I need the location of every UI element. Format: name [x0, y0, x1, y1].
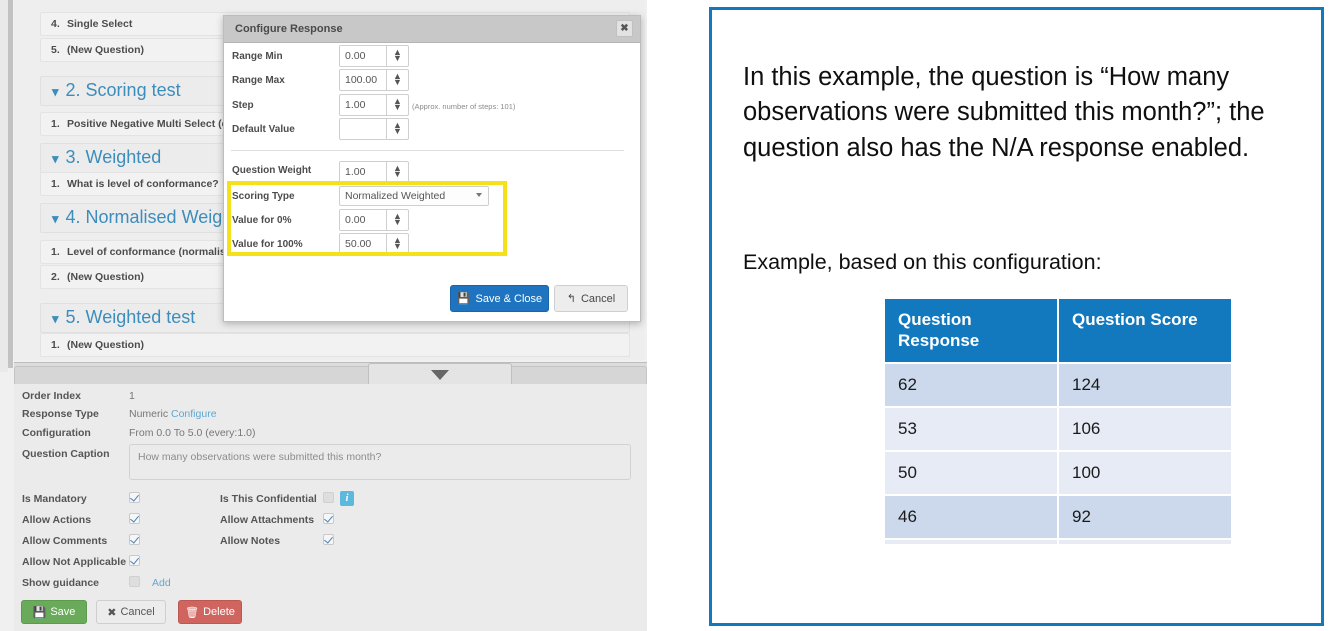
table-row: 50 100 [885, 452, 1231, 494]
value-for-100-stepper[interactable]: ▲▼ [339, 233, 409, 255]
value-for-100-label: Value for 100% [232, 239, 303, 250]
range-max-input[interactable] [339, 69, 387, 91]
cell-score: 92 [1059, 496, 1231, 538]
table-row: 46 92 [885, 496, 1231, 538]
save-disk-icon: 💾 [457, 292, 471, 305]
undo-arrow-icon: ↰ [567, 292, 576, 305]
allow-not-applicable-label: Allow Not Applicable [22, 556, 126, 568]
explanation-paragraph: In this example, the question is “How ma… [743, 60, 1295, 166]
approx-steps-note: (Approx. number of steps: 101) [412, 102, 515, 111]
chevron-down-icon [476, 193, 482, 197]
allow-comments-checkbox[interactable] [129, 534, 140, 545]
is-this-confidential-label: Is This Confidential [220, 493, 317, 505]
configure-link[interactable]: Configure [171, 408, 217, 420]
section-header-label: 4. Normalised Weigh [66, 207, 233, 230]
list-item-label: What is level of conformance? [67, 178, 219, 190]
dialog-divider [231, 150, 624, 151]
show-guidance-label: Show guidance [22, 577, 99, 589]
allow-not-applicable-checkbox[interactable] [129, 555, 140, 566]
chevron-down-icon: ▾ [41, 85, 66, 98]
dialog-cancel-label: Cancel [581, 293, 615, 305]
step-input[interactable] [339, 94, 387, 116]
value-for-0-input[interactable] [339, 209, 387, 231]
tab-active-collapse[interactable] [368, 363, 512, 385]
question-caption-input[interactable] [129, 444, 631, 480]
question-weight-label: Question Weight [232, 165, 311, 176]
show-guidance-checkbox[interactable] [129, 576, 140, 587]
column-header-question-score: Question Score [1059, 299, 1231, 362]
configuration-label: Configuration [22, 427, 91, 439]
close-icon[interactable]: ✖ [616, 20, 633, 37]
cancel-button[interactable]: ✖ Cancel [96, 600, 166, 624]
page-scrollbar-track[interactable] [0, 0, 8, 372]
cell-response: 53 [885, 408, 1057, 450]
section-header-label: 5. Weighted test [66, 307, 196, 330]
chevron-down-icon: ▾ [41, 312, 66, 325]
close-x-icon: ✖ [107, 606, 116, 619]
order-index-value: 1 [129, 390, 135, 402]
spin-down-icon[interactable]: ▼ [393, 105, 402, 111]
range-min-label: Range Min [232, 51, 283, 62]
save-disk-icon: 💾 [33, 606, 47, 619]
allow-attachments-checkbox[interactable] [323, 513, 334, 524]
spin-down-icon[interactable]: ▼ [393, 80, 402, 86]
cell-response: 50 [885, 452, 1057, 494]
is-mandatory-label: Is Mandatory [22, 493, 87, 505]
is-mandatory-checkbox[interactable] [129, 492, 140, 503]
info-icon[interactable]: i [340, 491, 354, 506]
scoring-type-label: Scoring Type [232, 191, 295, 202]
section-header-label: 2. Scoring test [66, 80, 181, 103]
default-value-stepper[interactable]: ▲▼ [339, 118, 409, 140]
question-detail-panel: Order Index 1 Response Type Numeric Conf… [14, 384, 647, 631]
cell-score: 106 [1059, 408, 1231, 450]
allow-notes-label: Allow Notes [220, 535, 280, 547]
table-row: 62 124 [885, 364, 1231, 406]
range-min-input[interactable] [339, 45, 387, 67]
default-value-label: Default Value [232, 124, 295, 135]
list-item-label: (New Question) [67, 339, 144, 351]
response-type-value: Numeric [129, 408, 168, 420]
question-weight-input[interactable] [339, 161, 387, 183]
question-score-table: Question Response Question Score 62 124 … [883, 297, 1233, 546]
list-item-number: 5. [41, 44, 67, 56]
chevron-down-icon: ▾ [41, 152, 66, 165]
question-weight-spin-buttons[interactable]: ▲▼ [386, 161, 409, 183]
cell-score: 100 [1059, 452, 1231, 494]
list-item[interactable]: 1. (New Question) [40, 333, 630, 357]
cell-response-truncated [885, 540, 1057, 544]
table-header-row: Question Response Question Score [885, 299, 1231, 362]
question-caption-label: Question Caption [22, 448, 110, 460]
list-item-number: 1. [41, 178, 67, 190]
slide-panel: In this example, the question is “How ma… [709, 7, 1324, 626]
allow-attachments-label: Allow Attachments [220, 514, 314, 526]
column-header-question-response: Question Response [885, 299, 1057, 362]
list-item-number: 1. [41, 246, 67, 258]
step-label: Step [232, 100, 254, 111]
cell-response: 46 [885, 496, 1057, 538]
value-for-0-label: Value for 0% [232, 215, 291, 226]
spin-down-icon[interactable]: ▼ [393, 220, 402, 226]
save-button-label: Save [50, 606, 75, 618]
table-row: 53 106 [885, 408, 1231, 450]
save-and-close-button[interactable]: 💾 Save & Close [450, 285, 549, 312]
range-max-stepper[interactable]: ▲▼ [339, 69, 409, 91]
default-value-input[interactable] [339, 118, 387, 140]
allow-actions-label: Allow Actions [22, 514, 91, 526]
dialog-cancel-button[interactable]: ↰ Cancel [554, 285, 628, 312]
response-type-label: Response Type [22, 408, 99, 420]
application-screenshot: 4. Single Select 5. (New Question) ▾ 2. … [0, 0, 647, 631]
spin-down-icon[interactable]: ▼ [393, 172, 402, 178]
dialog-title: Configure Response [235, 23, 343, 35]
step-stepper[interactable]: ▲▼ [339, 94, 409, 116]
section-header-label: 3. Weighted [66, 147, 162, 170]
delete-button-label: Delete [203, 606, 235, 618]
chevron-down-icon: ▾ [41, 212, 66, 225]
list-item-label: Positive Negative Multi Select (qu [67, 118, 234, 130]
tab-left[interactable] [14, 366, 370, 385]
spin-down-icon[interactable]: ▼ [393, 244, 402, 250]
page-scrollbar-thumb[interactable] [8, 0, 13, 368]
is-this-confidential-checkbox[interactable] [323, 492, 334, 503]
list-item-label: (New Question) [67, 44, 144, 56]
cancel-button-label: Cancel [120, 606, 154, 618]
allow-notes-checkbox[interactable] [323, 534, 334, 545]
trash-icon: 🗑 [185, 606, 199, 619]
value-for-0-stepper[interactable]: ▲▼ [339, 209, 409, 231]
spin-down-icon[interactable]: ▼ [393, 56, 402, 62]
cell-score-truncated [1059, 540, 1231, 544]
value-for-100-spin-buttons[interactable]: ▲▼ [386, 233, 409, 255]
scoring-type-selected-value: Normalized Weighted [345, 190, 445, 202]
list-item-label: Level of conformance (normalised [67, 246, 238, 258]
list-item-number: 1. [41, 339, 67, 351]
tab-right[interactable] [510, 366, 647, 385]
range-min-stepper[interactable]: ▲▼ [339, 45, 409, 67]
allow-comments-label: Allow Comments [22, 535, 107, 547]
list-item-number: 1. [41, 118, 67, 130]
list-item-label: (New Question) [67, 271, 144, 283]
detail-tab-strip [14, 362, 647, 385]
configuration-value: From 0.0 To 5.0 (every:1.0) [129, 427, 255, 439]
allow-actions-checkbox[interactable] [129, 513, 140, 524]
spin-down-icon[interactable]: ▼ [393, 129, 402, 135]
cell-response: 62 [885, 364, 1057, 406]
list-item-number: 4. [41, 18, 67, 30]
default-value-spin-buttons[interactable]: ▲▼ [386, 118, 409, 140]
step-spin-buttons[interactable]: ▲▼ [386, 94, 409, 116]
example-intro-paragraph: Example, based on this configuration: [743, 248, 1295, 277]
delete-button[interactable]: 🗑 Delete [178, 600, 242, 624]
scoring-type-select[interactable]: Normalized Weighted [339, 186, 489, 206]
chevron-down-icon [431, 370, 449, 380]
cell-score: 124 [1059, 364, 1231, 406]
range-max-spin-buttons[interactable]: ▲▼ [386, 69, 409, 91]
range-max-label: Range Max [232, 75, 285, 86]
add-guidance-link[interactable]: Add [152, 577, 171, 589]
table-row-truncated [885, 540, 1231, 544]
value-for-100-input[interactable] [339, 233, 387, 255]
list-item-number: 2. [41, 271, 67, 283]
order-index-label: Order Index [22, 390, 81, 402]
save-button[interactable]: 💾 Save [21, 600, 87, 624]
question-weight-stepper[interactable]: ▲▼ [339, 161, 409, 183]
save-and-close-label: Save & Close [476, 293, 543, 305]
value-for-0-spin-buttons[interactable]: ▲▼ [386, 209, 409, 231]
list-item-label: Single Select [67, 18, 132, 30]
range-min-spin-buttons[interactable]: ▲▼ [386, 45, 409, 67]
